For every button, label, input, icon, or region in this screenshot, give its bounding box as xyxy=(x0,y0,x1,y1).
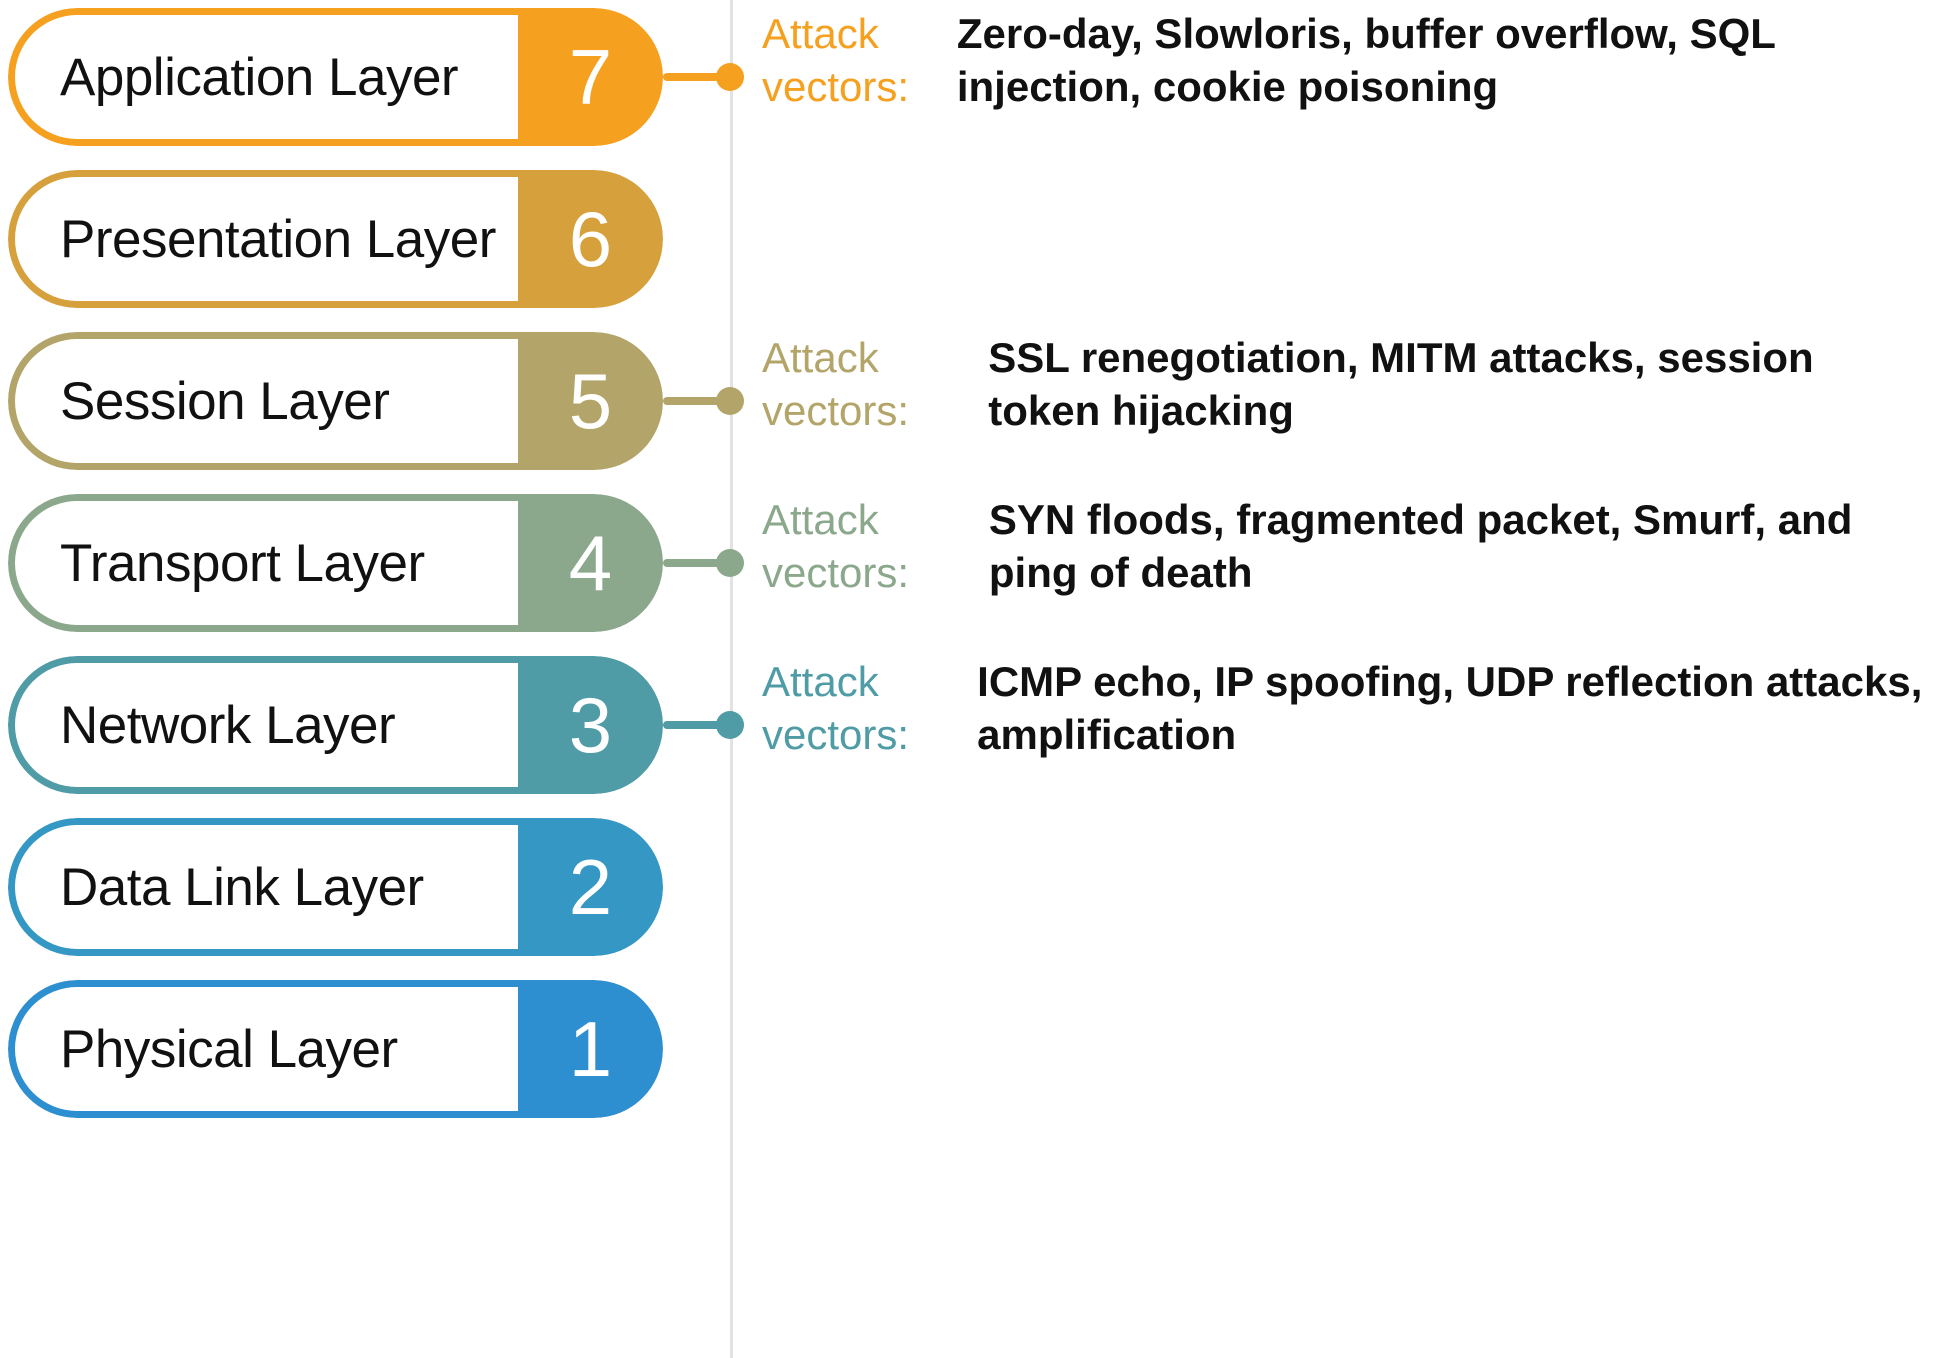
layer-pill-5[interactable]: Session Layer5 xyxy=(8,332,663,470)
attack-vectors-callout: Attack vectors: SYN floods, fragmented p… xyxy=(762,478,1927,616)
attack-vectors-lead-label: Attack vectors: xyxy=(762,8,957,114)
layer-pill-2[interactable]: Data Link Layer2 xyxy=(8,818,663,956)
attack-vectors-callout: Attack vectors: Zero-day, Slowloris, buf… xyxy=(762,0,1927,130)
layer-name-label: Presentation Layer xyxy=(60,170,496,308)
layer-pill-3[interactable]: Network Layer3 xyxy=(8,656,663,794)
layer-name-label: Session Layer xyxy=(60,332,389,470)
layer-pill-7[interactable]: Application Layer7 xyxy=(8,8,663,146)
attack-vectors-lead-label: Attack vectors: xyxy=(762,332,988,438)
layer-row: Presentation Layer6 xyxy=(0,170,1939,308)
layer-row: Data Link Layer2 xyxy=(0,818,1939,956)
layer-number-badge: 2 xyxy=(518,818,663,956)
layer-pill-6[interactable]: Presentation Layer6 xyxy=(8,170,663,308)
layer-number-badge: 6 xyxy=(518,170,663,308)
layer-row: Application Layer7Attack vectors: Zero-d… xyxy=(0,8,1939,146)
layer-row: Physical Layer1 xyxy=(0,980,1939,1118)
layer-name-label: Application Layer xyxy=(60,8,458,146)
layer-pill-4[interactable]: Transport Layer4 xyxy=(8,494,663,632)
attack-vectors-lead-label: Attack vectors: xyxy=(762,494,989,600)
attack-vectors-text: SSL renegotiation, MITM attacks, session… xyxy=(988,332,1927,438)
layer-row: Transport Layer4Attack vectors: SYN floo… xyxy=(0,494,1939,632)
attack-vectors-callout: Attack vectors: SSL renegotiation, MITM … xyxy=(762,316,1927,454)
layer-number-badge: 3 xyxy=(518,656,663,794)
layer-pill-1[interactable]: Physical Layer1 xyxy=(8,980,663,1118)
layer-number-badge: 4 xyxy=(518,494,663,632)
attack-vectors-text: Zero-day, Slowloris, buffer overflow, SQ… xyxy=(957,8,1927,114)
attack-vectors-lead-label: Attack vectors: xyxy=(762,656,977,762)
layer-row: Network Layer3Attack vectors: ICMP echo,… xyxy=(0,656,1939,794)
layer-name-label: Network Layer xyxy=(60,656,395,794)
callout-connector-dot xyxy=(716,549,744,577)
layer-name-label: Data Link Layer xyxy=(60,818,424,956)
layer-number-badge: 7 xyxy=(518,8,663,146)
callout-connector-dot xyxy=(716,387,744,415)
layer-name-label: Transport Layer xyxy=(60,494,425,632)
attack-vectors-text: ICMP echo, IP spoofing, UDP reflection a… xyxy=(977,656,1927,762)
attack-vectors-callout: Attack vectors: ICMP echo, IP spoofing, … xyxy=(762,640,1927,778)
layer-number-badge: 1 xyxy=(518,980,663,1118)
attack-vectors-text: SYN floods, fragmented packet, Smurf, an… xyxy=(989,494,1927,600)
layer-number-badge: 5 xyxy=(518,332,663,470)
layer-name-label: Physical Layer xyxy=(60,980,398,1118)
osi-layer-diagram: Application Layer7Attack vectors: Zero-d… xyxy=(0,0,1939,1358)
callout-connector-dot xyxy=(716,63,744,91)
callout-connector-dot xyxy=(716,711,744,739)
layer-row: Session Layer5Attack vectors: SSL renego… xyxy=(0,332,1939,470)
